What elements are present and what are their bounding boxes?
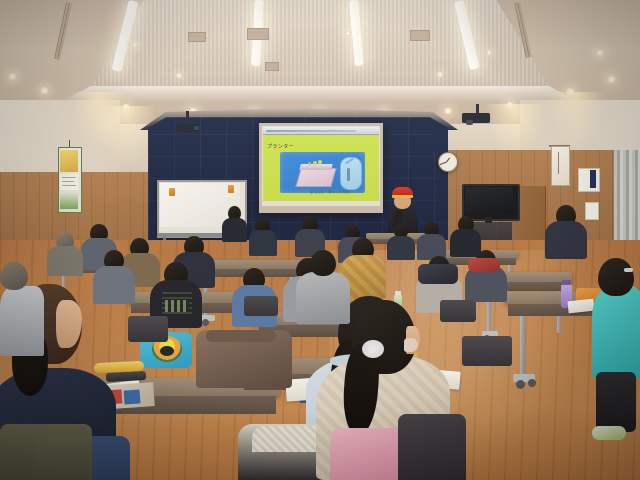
- audience-body: [222, 218, 247, 242]
- wall-notice: [578, 168, 600, 192]
- bottle-cap: [562, 280, 571, 285]
- person-left-edge-head: [0, 262, 28, 290]
- ceiling-downlight: [40, 87, 49, 94]
- backpack-graphic-face: [160, 346, 174, 356]
- wall-notice: [585, 202, 599, 220]
- girl-turquoise-legs: [596, 372, 636, 432]
- desk-caster: [516, 380, 525, 389]
- ceiling-downlight: [444, 108, 452, 114]
- wall-light-glow: [72, 92, 126, 146]
- girl-turquoise-head: [598, 258, 634, 296]
- desk-caster: [528, 379, 536, 387]
- poster-text-line: [62, 181, 74, 182]
- chair: [128, 316, 168, 342]
- sneaker: [592, 426, 626, 440]
- planter-soil-surface: [299, 164, 333, 170]
- ceiling-downlight: [8, 73, 17, 80]
- wall-light-glow: [548, 92, 604, 148]
- presenter-cap-band: [392, 195, 413, 198]
- ceiling-downlight: [486, 50, 492, 55]
- watering-can-illustration: [340, 157, 362, 190]
- hair-clip: [624, 268, 633, 272]
- poster-text-line: [62, 185, 76, 186]
- poster-text-line: [62, 177, 76, 178]
- chair: [244, 296, 278, 316]
- wall-clock: [438, 152, 458, 172]
- seedling-icon: [308, 162, 311, 165]
- bottle-cap: [395, 291, 401, 295]
- slide-title-text: プランター: [267, 143, 294, 150]
- whiteboard-clip: [228, 185, 234, 193]
- ceiling-vent: [188, 32, 206, 42]
- poster-panel-bottom: [60, 192, 78, 209]
- ceiling-vent: [247, 28, 269, 40]
- audience-body: [249, 230, 277, 256]
- seedling-icon: [313, 161, 317, 165]
- audience-body: [450, 229, 481, 257]
- whiteboard-clip: [169, 188, 175, 196]
- photo-scene: プランター ぷらんたーのつくりかた: [0, 0, 640, 480]
- ceiling-downlight: [176, 73, 182, 78]
- ceiling-downlight: [596, 50, 604, 56]
- watering-can-label: [347, 168, 350, 181]
- seedling-icon: [318, 160, 322, 164]
- ceiling-vent: [265, 62, 279, 71]
- audience-body: [545, 221, 587, 259]
- scroll-text-line: [558, 152, 559, 174]
- audience-body: [47, 246, 83, 276]
- desk-caster: [202, 319, 209, 326]
- desk-leg: [520, 316, 525, 378]
- hanging-scroll: [551, 146, 570, 186]
- audience-body: [93, 266, 135, 304]
- projector-lens-icon: [466, 120, 473, 125]
- poster-panel-top: [60, 150, 78, 172]
- ceiling-downlight: [607, 76, 616, 83]
- ceiling-downlight: [345, 31, 351, 36]
- shirt-print-keys: [165, 300, 189, 312]
- girl-turquoise-body: [592, 286, 640, 378]
- audience-body: [387, 236, 415, 260]
- chair: [462, 336, 512, 366]
- planter-illustration: [295, 168, 336, 187]
- projector-lens-icon: [194, 126, 199, 130]
- slide-caption-text: ぷらんたーのつくりかた: [310, 189, 350, 194]
- chair: [440, 300, 476, 322]
- ceiling-downlight: [437, 72, 443, 77]
- person-left-edge-body: [0, 286, 44, 356]
- chair-back: [398, 414, 466, 480]
- person-grey-hoodie-head: [310, 250, 336, 276]
- wall-notice-band: [590, 170, 596, 188]
- tv-screen: [465, 187, 513, 213]
- dark-bag: [418, 264, 458, 284]
- ceiling-vent: [410, 30, 430, 41]
- red-bag: [468, 258, 500, 272]
- slide-address-bar: [266, 130, 356, 132]
- ceiling-cove: [60, 86, 580, 102]
- tv-neck: [485, 217, 492, 223]
- jacket-collar: [206, 330, 276, 342]
- ceiling-ribbing: [88, 0, 552, 92]
- ceiling-downlight: [132, 42, 138, 47]
